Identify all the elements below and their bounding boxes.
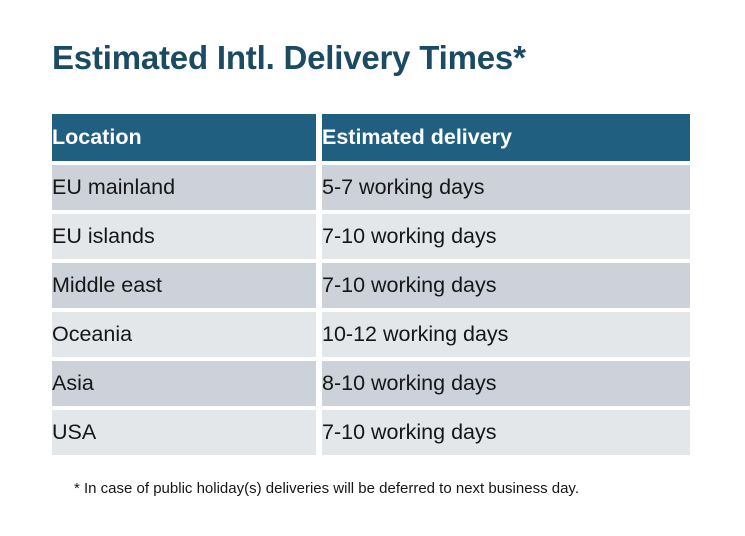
table-row: USA 7-10 working days bbox=[52, 410, 690, 455]
cell-location: Oceania bbox=[52, 312, 316, 357]
page-title: Estimated Intl. Delivery Times* bbox=[52, 36, 526, 80]
table-body: EU mainland 5-7 working days EU islands … bbox=[52, 161, 690, 455]
footnote: * In case of public holiday(s) deliverie… bbox=[74, 478, 579, 500]
cell-delivery: 10-12 working days bbox=[322, 312, 690, 357]
table-row: Oceania 10-12 working days bbox=[52, 312, 690, 357]
cell-location: USA bbox=[52, 410, 316, 455]
cell-delivery: 8-10 working days bbox=[322, 361, 690, 406]
column-header-estimated-delivery: Estimated delivery bbox=[322, 114, 690, 161]
column-header-location: Location bbox=[52, 114, 316, 161]
table-row: Asia 8-10 working days bbox=[52, 361, 690, 406]
cell-location: Middle east bbox=[52, 263, 316, 308]
delivery-times-table: Location Estimated delivery EU mainland … bbox=[52, 114, 690, 455]
cell-location: EU mainland bbox=[52, 165, 316, 210]
table-row: EU islands 7-10 working days bbox=[52, 214, 690, 259]
cell-delivery: 7-10 working days bbox=[322, 214, 690, 259]
cell-delivery: 5-7 working days bbox=[322, 165, 690, 210]
table-header-row: Location Estimated delivery bbox=[52, 114, 690, 161]
table-row: EU mainland 5-7 working days bbox=[52, 165, 690, 210]
table-header: Location Estimated delivery bbox=[52, 114, 690, 161]
cell-delivery: 7-10 working days bbox=[322, 263, 690, 308]
delivery-times-page: Estimated Intl. Delivery Times* Location… bbox=[0, 0, 745, 536]
table-row: Middle east 7-10 working days bbox=[52, 263, 690, 308]
cell-location: Asia bbox=[52, 361, 316, 406]
cell-delivery: 7-10 working days bbox=[322, 410, 690, 455]
cell-location: EU islands bbox=[52, 214, 316, 259]
